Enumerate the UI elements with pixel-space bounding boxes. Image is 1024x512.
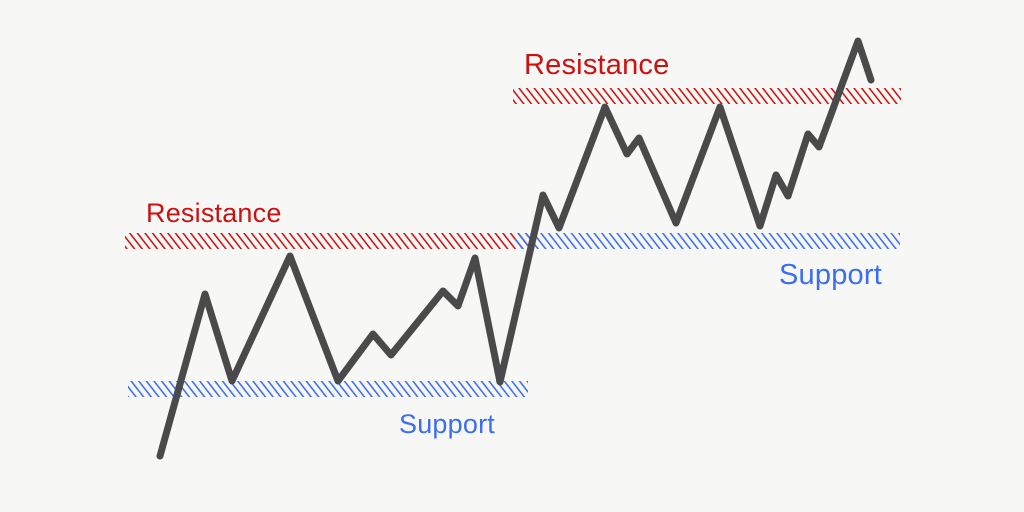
support-upper-band bbox=[515, 233, 900, 249]
zone-bands bbox=[125, 88, 901, 397]
support-label-upper: Support bbox=[779, 261, 882, 290]
resistance-label-lower: Resistance bbox=[146, 200, 282, 227]
resistance-label-upper: Resistance bbox=[524, 51, 669, 80]
support-lower-band bbox=[128, 381, 528, 397]
chart-canvas: Resistance Support Resistance Support bbox=[0, 0, 1024, 512]
support-resistance-chart bbox=[0, 0, 1024, 512]
resistance-lower-band bbox=[125, 233, 532, 249]
support-label-lower: Support bbox=[399, 411, 495, 438]
